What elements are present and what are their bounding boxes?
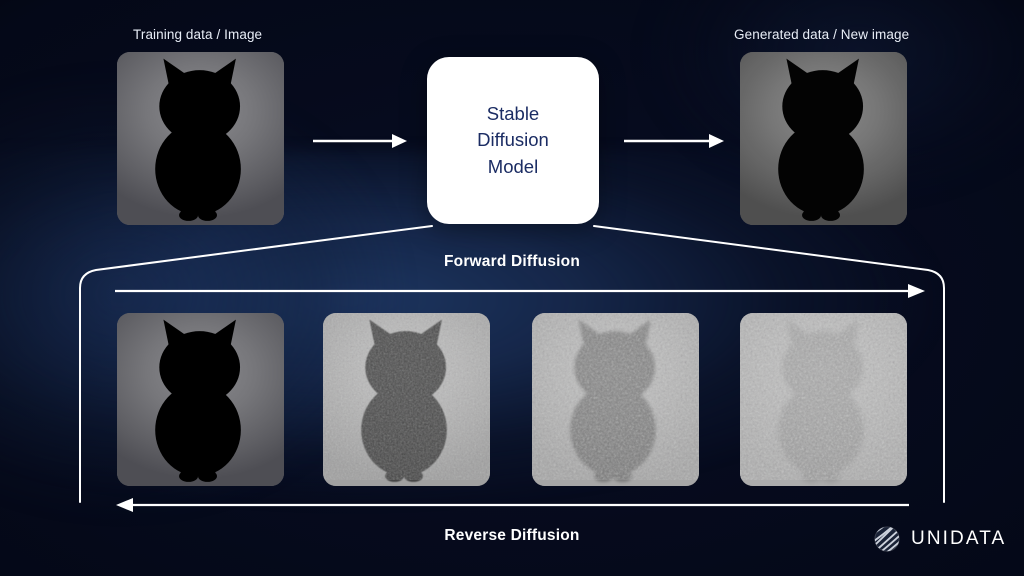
diffusion-step-1-thumbnail[interactable] bbox=[323, 313, 490, 486]
training-image-scene bbox=[117, 52, 284, 225]
diffusion-step-3-thumbnail[interactable] bbox=[740, 313, 907, 486]
diffusion-step-2-scene bbox=[532, 313, 699, 486]
caption-generated-data: Generated data / New image bbox=[734, 27, 909, 42]
model-card-label: Stable Diffusion Model bbox=[477, 101, 549, 180]
striped-globe-icon bbox=[872, 524, 902, 554]
diffusion-step-0-thumbnail[interactable] bbox=[117, 313, 284, 486]
logo-text: UNIDATA bbox=[911, 528, 1006, 550]
generated-image-scene bbox=[740, 52, 907, 225]
diffusion-step-3-scene bbox=[740, 313, 907, 486]
label-forward-diffusion: Forward Diffusion bbox=[0, 253, 1024, 271]
caption-training-data: Training data / Image bbox=[133, 27, 262, 42]
diffusion-step-0-scene bbox=[117, 313, 284, 486]
diffusion-step-1-scene bbox=[323, 313, 490, 486]
label-reverse-diffusion: Reverse Diffusion bbox=[0, 527, 1024, 545]
cat-illustration-orange bbox=[740, 313, 907, 486]
cat-illustration-orange bbox=[323, 313, 490, 486]
cat-illustration-white bbox=[740, 52, 907, 225]
diagram-canvas: Training data / Image Generated data / N… bbox=[0, 0, 1024, 576]
generated-image-thumbnail[interactable] bbox=[740, 52, 907, 225]
stable-diffusion-model-card[interactable]: Stable Diffusion Model bbox=[427, 57, 599, 224]
diffusion-step-2-thumbnail[interactable] bbox=[532, 313, 699, 486]
cat-illustration-orange bbox=[117, 52, 284, 225]
unidata-logo: UNIDATA bbox=[872, 524, 1006, 554]
cat-illustration-orange bbox=[117, 313, 284, 486]
cat-illustration-orange bbox=[532, 313, 699, 486]
training-image-thumbnail[interactable] bbox=[117, 52, 284, 225]
